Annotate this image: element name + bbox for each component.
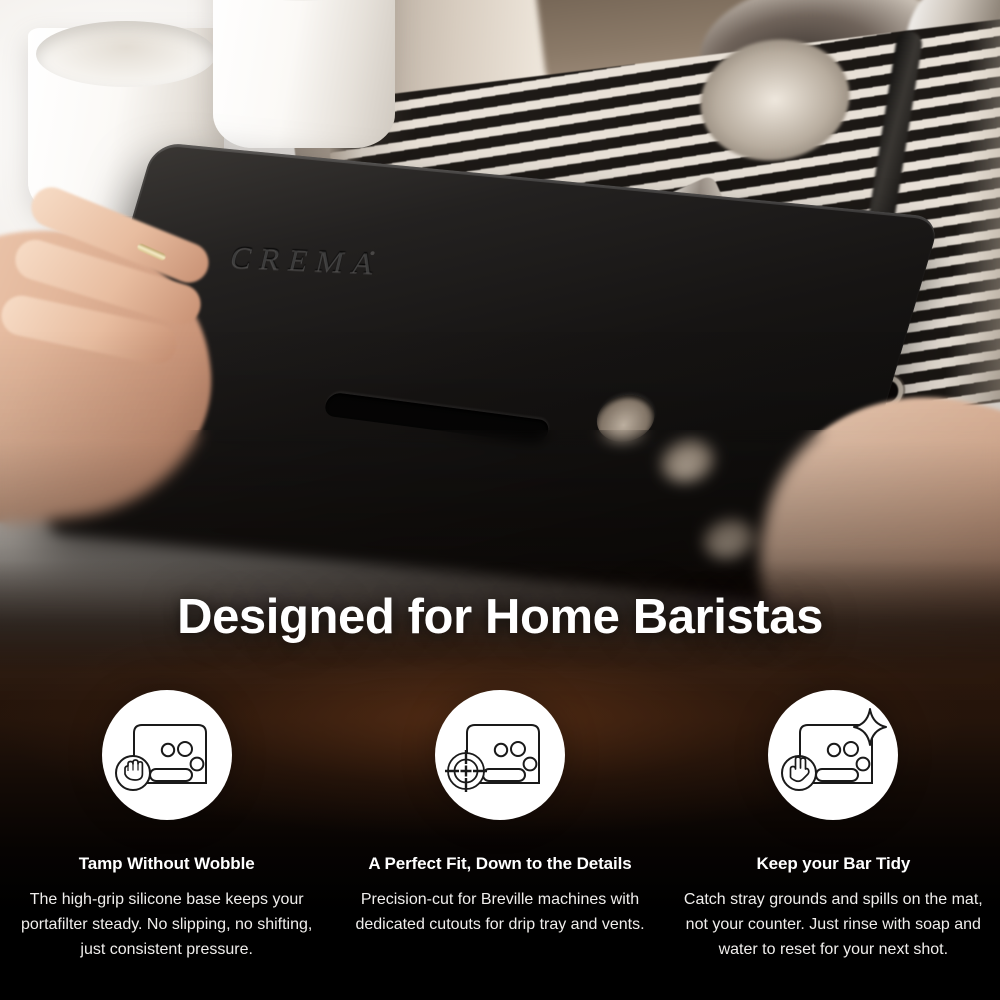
cup-rim [36, 21, 216, 87]
feature-title: Tamp Without Wobble [79, 854, 255, 874]
mat-sparkle-wipe-icon [778, 707, 888, 803]
mat-precision-crosshair-icon [445, 707, 555, 803]
feature-list: Tamp Without Wobble The high-grip silico… [0, 690, 1000, 962]
product-feature-banner: CREMA Designed for Home Baristas [0, 0, 1000, 1000]
cup-rim [220, 0, 388, 1]
ceramic-cup [213, 0, 395, 148]
feature-item-fit: A Perfect Fit, Down to the Details Preci… [333, 690, 666, 962]
feature-icon-badge [102, 690, 232, 820]
mat-grip-fist-icon [112, 707, 222, 803]
feature-description: The high-grip silicone base keeps your p… [19, 887, 315, 962]
feature-item-tidy: Keep your Bar Tidy Catch stray grounds a… [667, 690, 1000, 962]
page-title: Designed for Home Baristas [0, 589, 1000, 645]
feature-title: A Perfect Fit, Down to the Details [368, 854, 631, 874]
feature-description: Precision-cut for Breville machines with… [350, 887, 650, 937]
mat-brand-emboss: CREMA [227, 240, 387, 282]
feature-description: Catch stray grounds and spills on the ma… [679, 887, 987, 962]
feature-icon-badge [768, 690, 898, 820]
feature-item-tamp: Tamp Without Wobble The high-grip silico… [0, 690, 333, 962]
feature-title: Keep your Bar Tidy [756, 854, 910, 874]
feature-icon-badge [435, 690, 565, 820]
